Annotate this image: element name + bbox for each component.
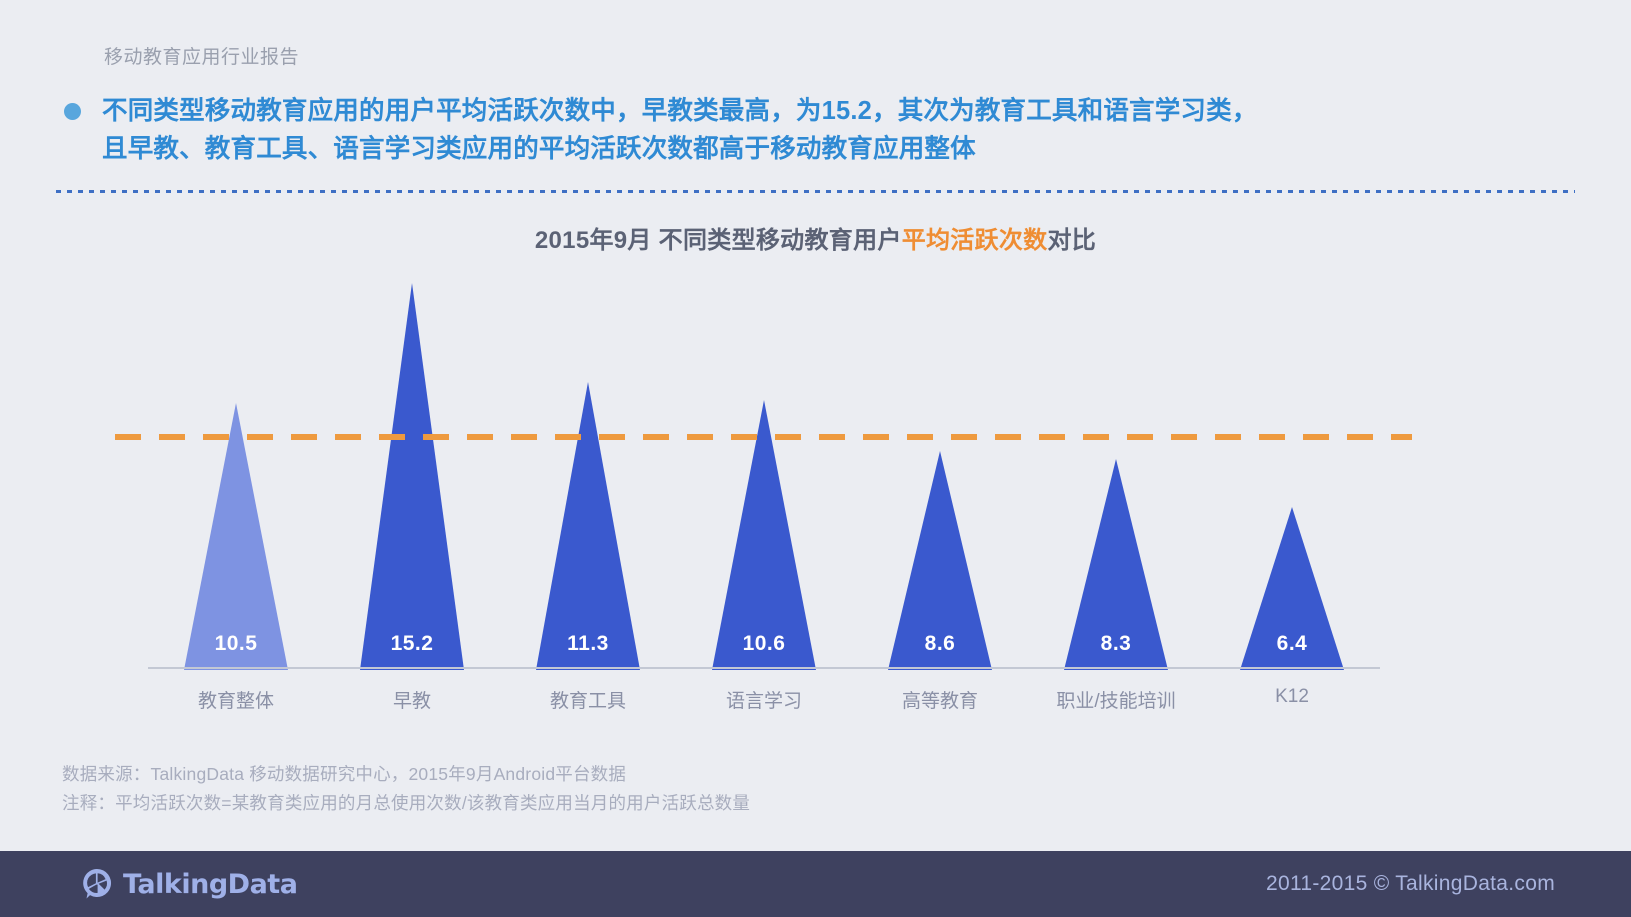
definition-note: 注释：平均活跃次数=某教育类应用的月总使用次数/该教育类应用当月的用户活跃总数量	[62, 789, 750, 818]
category-label-职业/技能培训: 职业/技能培训	[1028, 686, 1204, 713]
headline-line-2: 且早教、教育工具、语言学习类应用的平均活跃次数都高于移动教育应用整体	[102, 130, 1258, 168]
data-source-note: 数据来源：TalkingData 移动数据研究中心，2015年9月Android…	[62, 760, 750, 789]
headline-line-1: 不同类型移动教育应用的用户平均活跃次数中，早教类最高，为15.2，其次为教育工具…	[102, 97, 1258, 125]
copyright-text: 2011-2015 © TalkingData.com	[1266, 872, 1555, 896]
bar-chart-plot: 10.515.211.310.68.68.36.4	[148, 250, 1380, 670]
bar-value-label: 6.4	[1240, 632, 1344, 656]
bar-shape-triangle	[184, 403, 288, 670]
bar-value-label: 15.2	[360, 632, 464, 656]
bar-语言学习[interactable]: 10.6	[712, 400, 816, 670]
headline-block: 不同类型移动教育应用的用户平均活跃次数中，早教类最高，为15.2，其次为教育工具…	[64, 92, 1571, 168]
page-footer: TalkingData 2011-2015 © TalkingData.com	[0, 851, 1631, 917]
bar-教育整体[interactable]: 10.5	[184, 403, 288, 670]
bar-K12[interactable]: 6.4	[1240, 507, 1344, 670]
bar-早教[interactable]: 15.2	[360, 283, 464, 670]
bar-职业/技能培训[interactable]: 8.3	[1064, 459, 1168, 670]
category-label-语言学习: 语言学习	[676, 686, 852, 713]
bar-value-label: 10.5	[184, 632, 288, 656]
bar-教育工具[interactable]: 11.3	[536, 382, 640, 670]
talkingdata-logo-icon	[80, 867, 114, 901]
bar-value-label: 8.3	[1064, 632, 1168, 656]
category-label-教育整体: 教育整体	[148, 686, 324, 713]
bullet-icon	[64, 103, 81, 120]
chart-notes: 数据来源：TalkingData 移动数据研究中心，2015年9月Android…	[62, 760, 750, 818]
header-divider	[56, 190, 1575, 193]
bar-shape-triangle	[360, 283, 464, 670]
report-kicker: 移动教育应用行业报告	[104, 42, 299, 69]
category-label-K12: K12	[1204, 686, 1380, 708]
bar-shape-triangle	[712, 400, 816, 670]
talkingdata-logo: TalkingData	[80, 867, 297, 901]
category-label-教育工具: 教育工具	[500, 686, 676, 713]
headline-text: 不同类型移动教育应用的用户平均活跃次数中，早教类最高，为15.2，其次为教育工具…	[102, 92, 1258, 168]
talkingdata-wordmark: TalkingData	[123, 869, 297, 900]
bar-高等教育[interactable]: 8.6	[888, 451, 992, 670]
bar-value-label: 10.6	[712, 632, 816, 656]
bar-value-label: 8.6	[888, 632, 992, 656]
category-label-早教: 早教	[324, 686, 500, 713]
category-label-高等教育: 高等教育	[852, 686, 1028, 713]
chart-baseline-axis	[148, 667, 1380, 669]
average-reference-line	[115, 434, 1412, 440]
bar-shape-triangle	[536, 382, 640, 670]
bar-value-label: 11.3	[536, 632, 640, 656]
